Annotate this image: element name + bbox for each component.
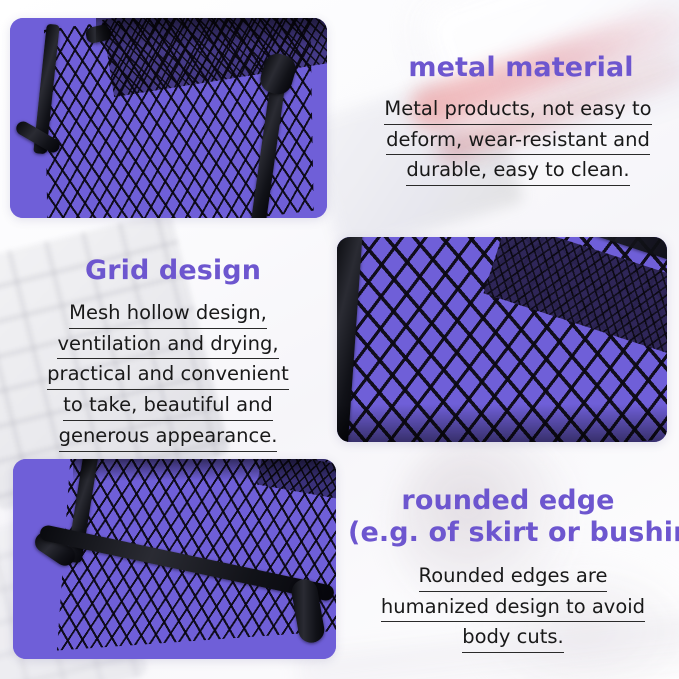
body-line: practical and convenient <box>47 361 289 390</box>
body-line: deform, wear-resistant and <box>386 127 650 156</box>
body-line: humanized design to avoid <box>381 594 645 623</box>
feature-image-grid-design <box>337 237 667 442</box>
product-photo-2 <box>337 237 667 442</box>
body-line: generous appearance. <box>59 423 278 452</box>
body-line: ventilation and drying, <box>57 331 278 360</box>
body-line: durable, easy to clean. <box>406 157 629 186</box>
product-photo-3 <box>13 459 336 659</box>
feature-body-metal-material: Metal products, not easy to deform, wear… <box>368 96 668 188</box>
feature-heading-metal-material: metal material <box>406 52 636 84</box>
feature-image-rounded-edge <box>13 459 336 659</box>
body-line: Mesh hollow design, <box>69 300 267 329</box>
body-line: body cuts. <box>462 624 564 653</box>
body-line: to take, beautiful and <box>63 392 273 421</box>
feature-heading-grid-design: Grid design <box>38 255 308 287</box>
heading-line-2: (e.g. of skirt or bushing) <box>348 517 668 549</box>
feature-heading-rounded-edge: rounded edge (e.g. of skirt or bushing) <box>348 485 668 549</box>
feature-body-grid-design: Mesh hollow design, ventilation and dryi… <box>18 300 318 454</box>
body-line: Metal products, not easy to <box>384 96 651 125</box>
feature-image-metal-material <box>10 18 327 218</box>
product-photo-1 <box>10 18 327 218</box>
feature-body-rounded-edge: Rounded edges are humanized design to av… <box>354 563 672 655</box>
body-line: Rounded edges are <box>419 563 608 592</box>
heading-line-1: rounded edge <box>348 485 668 517</box>
product-infographic: metal material Metal products, not easy … <box>0 0 679 679</box>
